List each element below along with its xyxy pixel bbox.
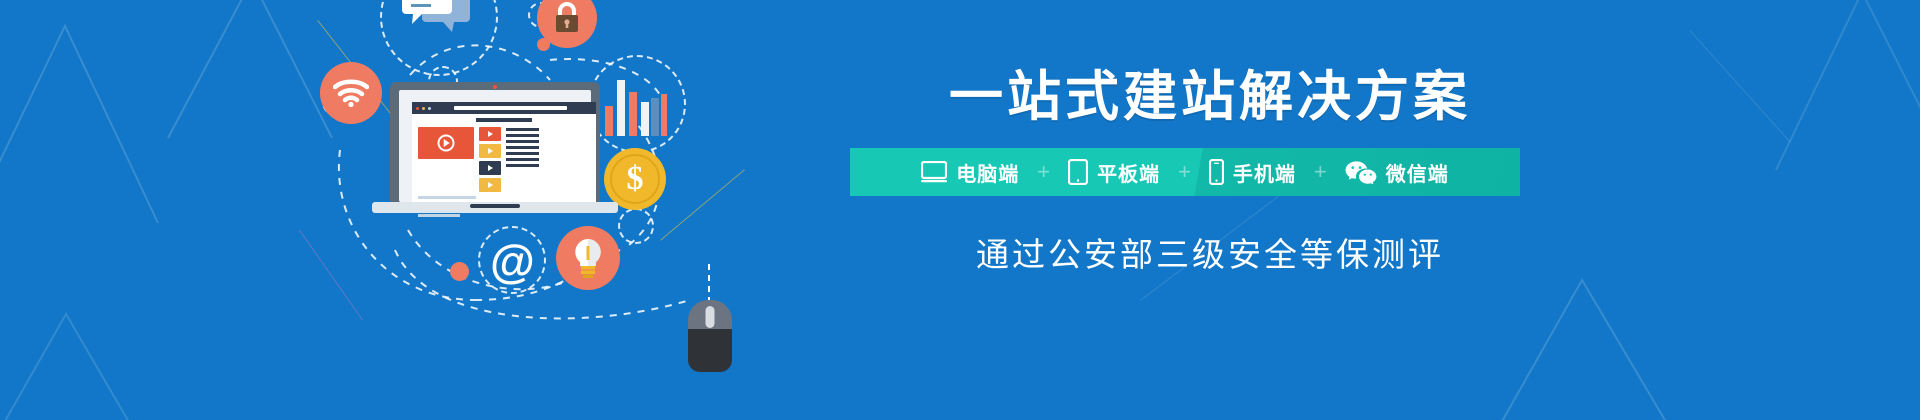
mouse-cord xyxy=(708,264,710,302)
lightbulb-icon xyxy=(572,237,604,279)
tag-wechat[interactable]: 微信端 xyxy=(1331,158,1463,187)
tag-separator-3: + xyxy=(1310,159,1331,185)
tag-separator-1: + xyxy=(1033,159,1054,185)
banner-subtitle: 通过公安部三级安全等保测评 xyxy=(900,228,1520,276)
text-line-column xyxy=(506,127,539,192)
laptop-lid xyxy=(390,82,600,206)
mouse-icon xyxy=(688,300,732,372)
thumbnail-3[interactable] xyxy=(479,161,501,175)
lock-icon xyxy=(552,1,582,35)
triangle-outline-left xyxy=(0,18,170,238)
tag-separator-2: + xyxy=(1174,159,1195,185)
text-line xyxy=(506,164,539,167)
lightbulb-icon-circle xyxy=(556,226,620,290)
laptop-illustration xyxy=(390,82,600,217)
laptop-screen xyxy=(399,90,591,202)
browser-dot-red xyxy=(416,107,419,110)
at-sign-icon: @ xyxy=(490,238,535,284)
tag-mobile[interactable]: 手机端 xyxy=(1195,158,1310,187)
thumbnail-column xyxy=(479,127,501,192)
thumbnail-1[interactable] xyxy=(479,127,501,141)
laptop-base xyxy=(372,202,618,213)
page-title: 一站式建站解决方案 xyxy=(900,52,1520,131)
wifi-icon-circle xyxy=(320,62,382,124)
text-line xyxy=(418,214,460,217)
browser-url-bar[interactable] xyxy=(454,106,567,110)
browser-titlebar xyxy=(412,102,596,114)
banner-content: 一站式建站解决方案 电脑端 + xyxy=(900,0,1920,420)
dot-orange-bottom xyxy=(450,262,469,281)
browser-dot-grey xyxy=(428,107,431,110)
tag-tablet[interactable]: 平板端 xyxy=(1054,158,1174,187)
tag-label-tablet: 平板端 xyxy=(1097,158,1160,187)
tag-label-mobile: 手机端 xyxy=(1233,158,1296,187)
wifi-icon xyxy=(333,79,369,107)
mouse-bottom-shell xyxy=(688,329,732,372)
mouse-scroll-wheel xyxy=(706,306,715,328)
text-line xyxy=(506,134,539,137)
thumbnail-2[interactable] xyxy=(479,144,501,158)
text-line xyxy=(506,152,539,155)
browser-content xyxy=(412,122,596,192)
tag-desktop[interactable]: 电脑端 xyxy=(907,158,1033,187)
hero-illustration: $ @ xyxy=(300,0,860,420)
promo-banner: $ @ xyxy=(0,0,1920,420)
bar-chart-icon xyxy=(605,74,667,136)
mobile-phone-icon xyxy=(1209,159,1224,185)
tag-label-wechat: 微信端 xyxy=(1386,158,1449,187)
text-line xyxy=(506,146,539,149)
laptop-camera-dot xyxy=(493,85,497,89)
text-line xyxy=(506,140,539,143)
text-line xyxy=(506,158,539,161)
text-line xyxy=(506,128,539,131)
browser-mockup xyxy=(412,102,596,206)
wechat-icon xyxy=(1345,160,1377,184)
tag-label-desktop: 电脑端 xyxy=(956,158,1019,187)
video-player[interactable] xyxy=(418,127,474,159)
browser-dot-yellow xyxy=(422,107,425,110)
desktop-monitor-icon xyxy=(921,161,947,183)
text-line xyxy=(418,196,476,199)
dashed-ring-right-small xyxy=(618,208,654,244)
play-icon xyxy=(444,139,450,147)
thumbnail-4[interactable] xyxy=(479,178,501,192)
chat-bubble-icon xyxy=(400,0,478,44)
tablet-icon xyxy=(1068,159,1088,185)
dollar-coin-icon: $ xyxy=(604,148,666,210)
triangle-outline-bottomleft xyxy=(0,300,170,420)
device-tag-bar: 电脑端 + 平板端 + xyxy=(850,148,1520,196)
